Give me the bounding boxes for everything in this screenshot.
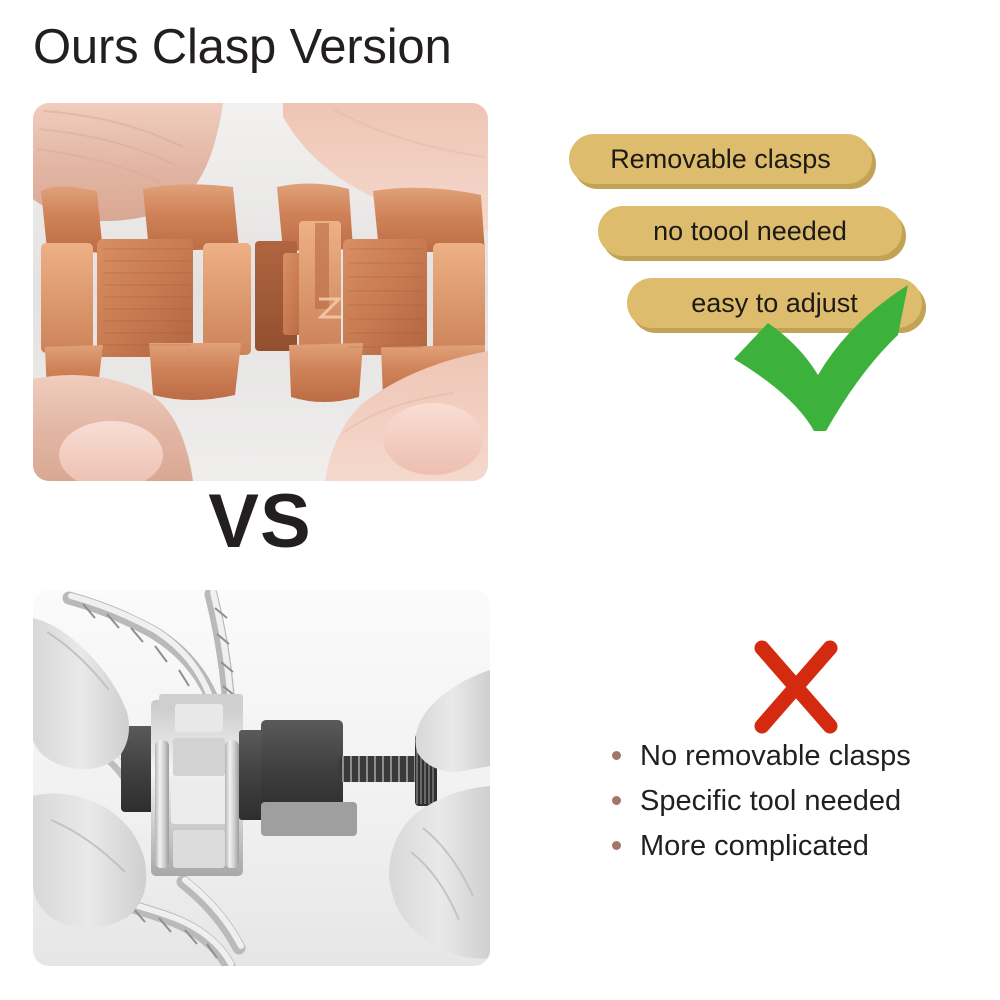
pro-pill-removable-clasps: Removable clasps: [569, 134, 872, 184]
competitor-tool-photo-art: [33, 590, 490, 966]
vs-label: VS: [0, 482, 520, 562]
cons-item-label: No removable clasps: [640, 739, 911, 773]
competitor-tool-photo: [33, 590, 490, 966]
comparison-infographic: Ours Clasp Version: [0, 0, 1000, 1000]
cons-item: More complicated: [612, 823, 952, 868]
bullet-dot-icon: [612, 751, 621, 760]
ours-clasp-photo: [33, 103, 488, 481]
cons-item: No removable clasps: [612, 733, 952, 778]
bullet-dot-icon: [612, 796, 621, 805]
cons-list: No removable clasps Specific tool needed…: [612, 733, 952, 868]
bullet-dot-icon: [612, 841, 621, 850]
page-title: Ours Clasp Version: [33, 18, 452, 76]
red-x-icon: [750, 638, 842, 736]
cons-item-label: Specific tool needed: [640, 784, 901, 818]
cons-item-label: More complicated: [640, 829, 869, 863]
green-check-icon: [730, 283, 910, 433]
ours-clasp-photo-art: [33, 103, 488, 481]
pro-pill-no-tool-needed: no toool needed: [598, 206, 902, 256]
cons-item: Specific tool needed: [612, 778, 952, 823]
